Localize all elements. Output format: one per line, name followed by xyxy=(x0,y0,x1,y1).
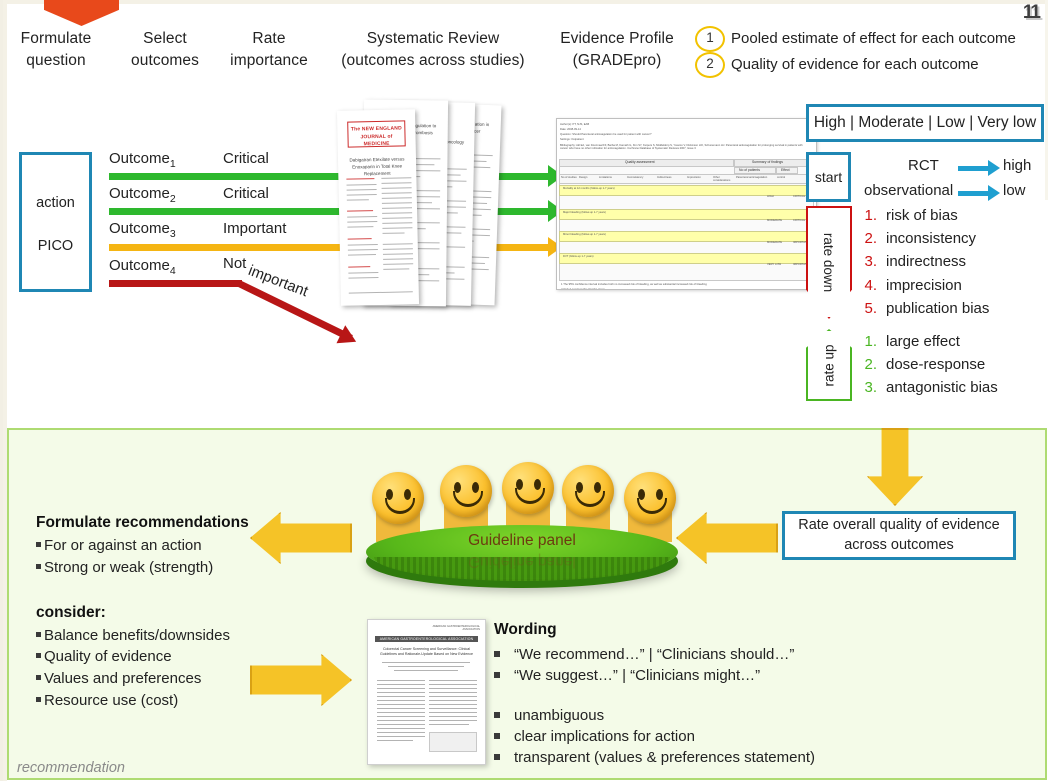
rate-up-label: rate up xyxy=(822,344,837,386)
rate-down-label-wrap: rate down xyxy=(806,206,852,319)
outcome-subscript: 1 xyxy=(170,158,176,170)
rate-down-item: 5.publication bias xyxy=(863,299,989,320)
doc-title: Colorectal Cancer Screening and Surveill… xyxy=(377,647,476,658)
guideline-panel-label-reflection: Guideline panel xyxy=(366,552,678,570)
formulate-recommendations-block: Formulate recommendations For or against… xyxy=(36,514,276,712)
wording-item: “We suggest…” | “Clinicians might…” xyxy=(494,665,894,686)
guideline-panel-graphic: Guideline panel Guideline panel xyxy=(366,462,678,587)
step-label-line1: Systematic Review xyxy=(333,28,533,50)
start-design-rct: RCT xyxy=(908,157,939,174)
badge-number-2: 2 xyxy=(695,52,725,78)
wording-item: “We recommend…” | “Clinicians should…” xyxy=(494,644,894,665)
start-arrow-2 xyxy=(958,191,990,196)
step-label-line1: Select xyxy=(115,28,215,50)
bullet-square-icon xyxy=(36,675,41,680)
step-label-line2: (outcomes across studies) xyxy=(333,50,533,72)
ep-col-8: control xyxy=(777,176,795,179)
footer-recommendation-label: recommendation xyxy=(17,760,125,776)
wording-heading: Wording xyxy=(494,621,894,639)
step-label-line2: (GRADEpro) xyxy=(538,50,696,72)
step-rate-importance: Rate importance xyxy=(217,28,321,72)
panelist-face-2 xyxy=(440,465,492,517)
bullet-square-icon xyxy=(36,697,41,702)
start-design-observational: observational xyxy=(864,182,953,199)
ep-col-0: No of studies xyxy=(561,176,577,179)
panelist-face-1 xyxy=(372,472,424,524)
evidence-profile-table: Author(s): PT, NJS, EAB Date: 2008-09-14… xyxy=(556,118,817,290)
journal-masthead: The NEW ENGLAND JOURNAL of MEDICINE xyxy=(348,120,406,147)
bullet-square-icon xyxy=(494,754,500,760)
ep-quality-1: HIGH xyxy=(767,195,791,198)
outcome-importance-2: Critical xyxy=(223,185,269,202)
recommendation-item: Strong or weak (strength) xyxy=(36,557,276,579)
bullet-square-icon xyxy=(36,632,41,637)
step-label-line2: importance xyxy=(217,50,321,72)
doc-org-banner: AMERICAN GASTROENTEROLOGICAL ASSOCIATION xyxy=(375,636,478,642)
ep-sub-header-1: No of patients xyxy=(739,168,760,172)
paper-body: The NEW ENGLAND JOURNAL of MEDICINE Dabi… xyxy=(342,115,414,299)
ep-quality-4: VERY LOW xyxy=(767,263,791,266)
badge-number-1: 1 xyxy=(695,26,725,52)
pico-line-action: action xyxy=(22,195,89,211)
consider-item: Quality of evidence xyxy=(36,646,276,668)
step-label-line1: Formulate xyxy=(7,28,105,50)
ep-col-2: Limitations xyxy=(599,176,623,179)
ep-meta-settings: Settings: Outpatient xyxy=(560,138,810,141)
step-select-outcomes: Select outcomes xyxy=(115,28,215,72)
start-box: start xyxy=(806,152,851,202)
page-number: 11 xyxy=(1023,2,1039,24)
wording-item: unambiguous xyxy=(494,705,894,726)
overall-quality-box: Rate overall quality of evidence across … xyxy=(782,511,1016,560)
ep-sub-header-2: Effect xyxy=(781,168,790,172)
down-chevron-icon xyxy=(44,0,119,26)
ep-section-label-2: Major bleeding (follow-up 1-7 years) xyxy=(563,211,763,214)
outcome-subscript: 2 xyxy=(170,193,176,205)
step-label-line1: Rate xyxy=(217,28,321,50)
guideline-panel-label: Guideline panel xyxy=(366,532,678,550)
ep-meta-date: Date: 2008-09-14 xyxy=(560,128,810,131)
outcome-importance-3: Important xyxy=(223,220,286,237)
study-paper-1: The NEW ENGLAND JOURNAL of MEDICINE Dabi… xyxy=(337,109,419,306)
start-arrow-head-2 xyxy=(988,185,1000,201)
consider-item: Balance benefits/downsides xyxy=(36,625,276,647)
ep-quality-3: MODERATE xyxy=(767,241,791,244)
ep-col-3: Inconsistency xyxy=(627,176,653,179)
panelist-face-5 xyxy=(624,472,676,524)
badge-text-2: Quality of evidence for each outcome xyxy=(731,56,979,73)
rate-up-item: 3.antagonistic bias xyxy=(863,378,998,399)
consider-heading: consider: xyxy=(36,604,276,622)
ep-section-label-1: Mortality at 12 months (follow-up 1-7 ye… xyxy=(563,187,763,190)
ep-meta-author: Author(s): PT, NJS, EAB xyxy=(560,123,810,126)
start-arrow-1 xyxy=(958,166,990,171)
consider-item: Resource use (cost) xyxy=(36,690,276,712)
bullet-square-icon xyxy=(36,653,41,658)
ep-footnote-1: 1 The 95% confidence interval includes b… xyxy=(561,283,811,286)
ep-group-header-2: Summary of findings xyxy=(752,160,783,164)
outcome-label-3: Outcome3 xyxy=(109,220,176,240)
start-result-high: high xyxy=(1003,157,1031,174)
ep-meta-question: Question: Should Parenteral anticoagulat… xyxy=(560,133,810,136)
recommendation-item: For or against an action xyxy=(36,535,276,557)
ep-section-label-3: Minor bleeding (follow-up 1-7 years) xyxy=(563,233,763,236)
pico-line-pico: PICO xyxy=(22,238,89,254)
step-evidence-profile: Evidence Profile (GRADEpro) xyxy=(538,28,696,72)
grade-process-slide: Formulate question Select outcomes Rate … xyxy=(0,0,1048,781)
ep-col-4: Indirectness xyxy=(657,176,683,179)
rate-down-item: 1.risk of bias xyxy=(863,206,989,227)
ep-col-5: Imprecision xyxy=(687,176,711,179)
step-systematic-review: Systematic Review (outcomes across studi… xyxy=(333,28,533,72)
wording-item: transparent (values & preferences statem… xyxy=(494,747,894,768)
bullet-square-icon xyxy=(494,712,500,718)
outcome-importance-4a: Not xyxy=(223,255,246,272)
start-arrow-head-1 xyxy=(988,160,1000,176)
wording-item: clear implications for action xyxy=(494,726,894,747)
step-label-line2: outcomes xyxy=(115,50,215,72)
outcome-subscript: 4 xyxy=(170,265,176,277)
rate-down-item: 3.indirectness xyxy=(863,252,989,273)
ep-col-1: Design xyxy=(579,176,595,179)
recommendations-heading: Formulate recommendations xyxy=(36,514,276,532)
bullet-square-icon xyxy=(494,651,500,657)
ep-group-header-1: Quality assessment xyxy=(625,160,655,164)
start-result-low: low xyxy=(1003,182,1026,199)
ep-col-6: Other considerations xyxy=(713,176,733,183)
outcome-text: Outcome xyxy=(109,185,170,202)
panelist-face-4 xyxy=(562,465,614,517)
bullet-square-icon xyxy=(494,733,500,739)
action-pico-box: action PICO xyxy=(19,152,92,292)
outcome-label-1: Outcome1 xyxy=(109,150,176,170)
outcome-importance-1: Critical xyxy=(223,150,269,167)
ep-quality-2: MODERATE xyxy=(767,219,791,222)
ep-section-label-4: DVT (follow-up 1-7 years) xyxy=(563,255,763,258)
overall-quality-line2: across outcomes xyxy=(798,536,1000,556)
rate-down-label: rate down xyxy=(822,233,837,292)
rate-up-item: 1.large effect xyxy=(863,332,998,353)
bullet-square-icon xyxy=(36,542,41,547)
rate-down-item: 2.inconsistency xyxy=(863,229,989,250)
outcome-label-2: Outcome2 xyxy=(109,185,176,205)
outcome-text: Outcome xyxy=(109,150,170,167)
guideline-document-thumbnail: AMERICAN GASTROENTEROLOGICAL ASSOCIATION… xyxy=(367,619,486,765)
ep-meta-bibliography: Bibliography: Akl EA, van Doormaal FF, B… xyxy=(560,144,810,153)
quality-levels-box: High | Moderate | Low | Very low xyxy=(806,104,1044,142)
rate-down-list: 1.risk of bias 2.inconsistency 3.indirec… xyxy=(863,206,989,322)
bullet-square-icon xyxy=(494,672,500,678)
step-formulate-question: Formulate question xyxy=(7,28,105,72)
bullet-square-icon xyxy=(36,564,41,569)
outcome-arrow-bar-4 xyxy=(109,280,242,287)
top-edge-strip xyxy=(3,0,1048,4)
rate-up-label-wrap: rate up xyxy=(806,329,852,401)
ep-col-7: Parenteral anticoagulation xyxy=(736,176,772,179)
outcome-text: Outcome xyxy=(109,220,170,237)
outcome-label-4: Outcome4 xyxy=(109,257,176,277)
rate-up-item: 2.dose-response xyxy=(863,355,998,376)
outcome-subscript: 3 xyxy=(170,228,176,240)
step-label-line2: question xyxy=(7,50,105,72)
outcome-text: Outcome xyxy=(109,257,170,274)
consider-item: Values and preferences xyxy=(36,668,276,690)
ep-footnote-2: 2 Only 2 events in the placebo group xyxy=(561,288,811,290)
rate-down-item: 4.imprecision xyxy=(863,276,989,297)
step-label-line1: Evidence Profile xyxy=(538,28,696,50)
panelist-face-3 xyxy=(502,462,554,514)
overall-quality-line1: Rate overall quality of evidence xyxy=(798,516,1000,536)
rate-up-list: 1.large effect 2.dose-response 3.antagon… xyxy=(863,332,998,402)
paper-title: Dabigatran Etexilate versus Enoxaparin i… xyxy=(349,155,405,178)
badge-text-1: Pooled estimate of effect for each outco… xyxy=(731,30,1016,47)
wording-block: Wording “We recommend…” | “Clinicians sh… xyxy=(494,621,894,768)
